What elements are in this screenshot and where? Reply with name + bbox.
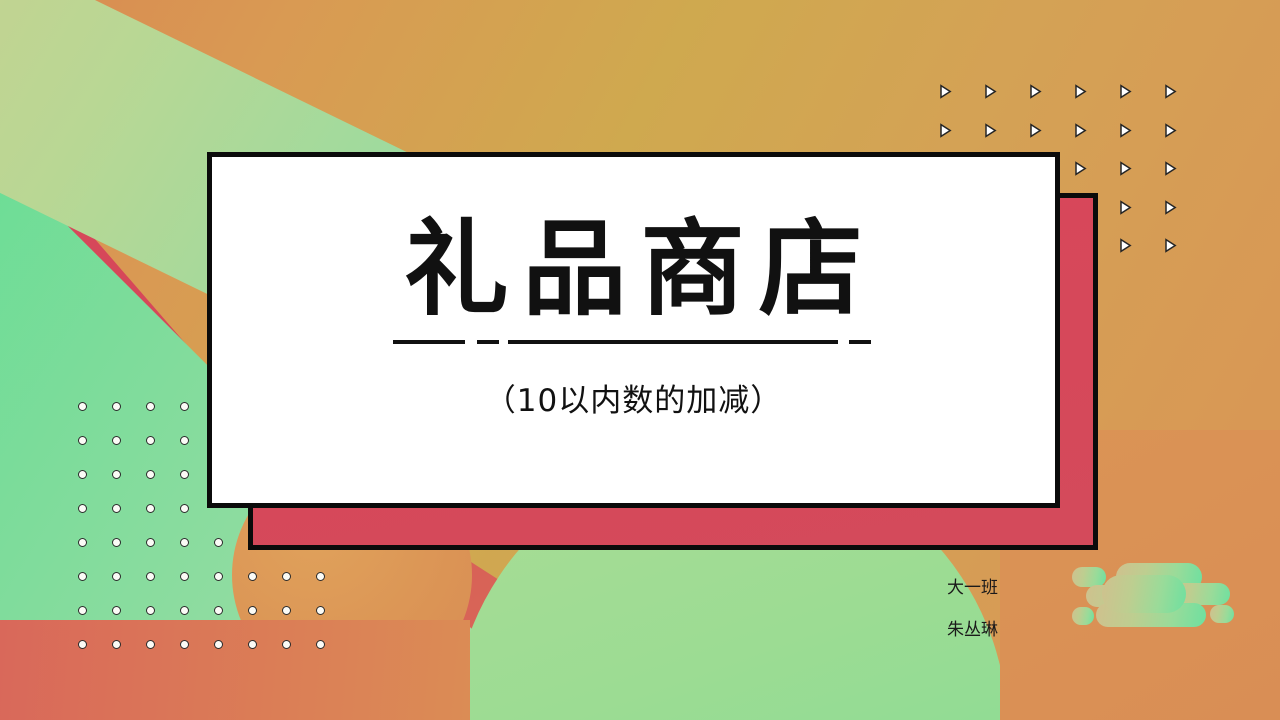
circle-dot-icon — [112, 436, 121, 445]
play-triangle-icon — [983, 84, 998, 99]
play-triangle-icon — [1163, 238, 1178, 253]
circle-dot-icon — [214, 640, 223, 649]
circle-dot-icon — [214, 538, 223, 547]
title-card: 礼品商店 （10以内数的加减） — [207, 152, 1060, 508]
circle-dot-icon — [78, 504, 87, 513]
circle-dot-icon — [180, 402, 189, 411]
circle-dot-icon — [316, 572, 325, 581]
play-triangle-icon — [1118, 200, 1133, 215]
play-triangle-icon — [1163, 200, 1178, 215]
divider-dash-3 — [508, 340, 838, 344]
divider-dash-1 — [393, 340, 465, 344]
circle-dot-icon — [146, 504, 155, 513]
play-triangle-icon — [1118, 84, 1133, 99]
play-triangle-icon — [1073, 123, 1088, 138]
circle-dot-icon — [78, 606, 87, 615]
slide-canvas: 礼品商店 （10以内数的加减） 大一班 朱丛琳 — [0, 0, 1280, 720]
circle-dot-icon — [214, 572, 223, 581]
circle-dot-icon — [112, 504, 121, 513]
play-triangle-icon — [1163, 161, 1178, 176]
circle-dot-icon — [112, 470, 121, 479]
play-triangle-icon — [983, 123, 998, 138]
circle-dot-icon — [316, 606, 325, 615]
circle-dot-icon — [112, 572, 121, 581]
title-divider — [393, 340, 875, 345]
page-subtitle: （10以内数的加减） — [485, 375, 782, 420]
circle-dot-icon — [146, 470, 155, 479]
play-triangle-icon — [1073, 161, 1088, 176]
circle-dot-icon — [282, 640, 291, 649]
play-triangle-icon — [1073, 84, 1088, 99]
circle-dot-icon — [316, 640, 325, 649]
circle-dot-icon — [78, 572, 87, 581]
play-triangle-icon — [1163, 123, 1178, 138]
liquid-blob-icon — [1072, 561, 1232, 639]
circle-dot-icon — [282, 606, 291, 615]
play-triangle-icon — [1118, 238, 1133, 253]
play-triangle-icon — [1118, 161, 1133, 176]
play-triangle-icon — [1028, 123, 1043, 138]
circle-dot-icon — [180, 538, 189, 547]
circle-dot-icon — [112, 606, 121, 615]
circle-dot-icon — [146, 436, 155, 445]
play-triangle-icon — [1028, 84, 1043, 99]
circle-dot-icon — [180, 504, 189, 513]
circle-dot-icon — [180, 606, 189, 615]
play-triangle-icon — [938, 123, 953, 138]
circle-dot-icon — [146, 402, 155, 411]
circle-dot-icon — [248, 572, 257, 581]
presenter-block: 大一班 朱丛琳 — [947, 580, 998, 639]
divider-dash-4 — [849, 340, 871, 344]
play-triangle-icon — [938, 84, 953, 99]
circle-dot-icon — [78, 640, 87, 649]
circle-dot-icon — [112, 538, 121, 547]
circle-dot-icon — [146, 538, 155, 547]
page-title: 礼品商店 — [390, 215, 876, 324]
presenter-name: 朱丛琳 — [947, 622, 998, 639]
circle-dot-icon — [78, 470, 87, 479]
circle-dot-icon — [180, 470, 189, 479]
circle-dot-icon — [78, 402, 87, 411]
circle-dot-icon — [112, 640, 121, 649]
circle-dot-icon — [78, 436, 87, 445]
play-triangle-icon — [1163, 84, 1178, 99]
circle-dot-icon — [146, 572, 155, 581]
circle-dot-icon — [248, 640, 257, 649]
circle-dot-icon — [180, 572, 189, 581]
circle-dot-icon — [282, 572, 291, 581]
circle-dot-icon — [78, 538, 87, 547]
divider-dash-2 — [477, 340, 499, 344]
presenter-class: 大一班 — [947, 580, 998, 597]
circle-dot-icon — [180, 436, 189, 445]
circle-dot-icon — [146, 606, 155, 615]
circle-dot-icon — [112, 402, 121, 411]
play-triangle-icon — [1118, 123, 1133, 138]
circle-dot-icon — [146, 640, 155, 649]
circle-dot-icon — [180, 640, 189, 649]
circle-dot-icon — [214, 606, 223, 615]
circle-dot-icon — [248, 606, 257, 615]
